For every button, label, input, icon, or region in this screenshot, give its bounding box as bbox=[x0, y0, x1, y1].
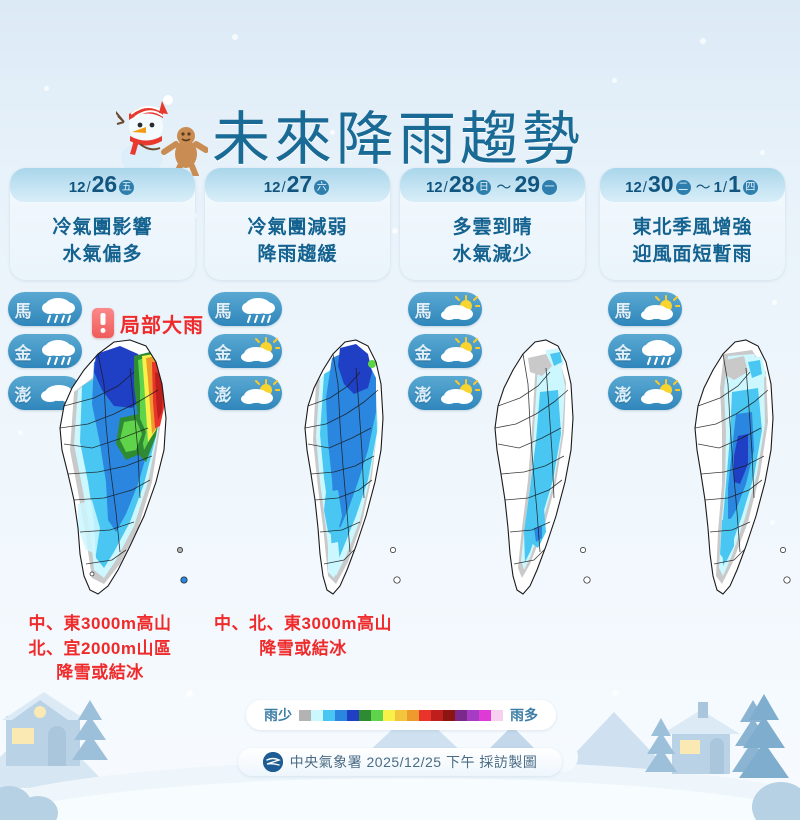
note-line-2: 降雪或結冰 bbox=[198, 637, 408, 662]
rainfall-map-4[interactable] bbox=[676, 332, 800, 602]
rainfall-map-1[interactable] bbox=[34, 332, 204, 602]
weekday-badge-end: 四 bbox=[743, 180, 758, 195]
date-slash: / bbox=[643, 179, 647, 196]
date-line: 12 / 30 二 ～ 1 / 1 四 bbox=[625, 173, 760, 198]
date-day: 30 bbox=[648, 173, 674, 196]
pine-tree bbox=[738, 694, 788, 780]
card-date-header: 12 / 28 日 ～ 29 一 bbox=[400, 168, 585, 202]
date-range-tilde: ～ bbox=[496, 176, 511, 197]
legend-swatch bbox=[491, 710, 503, 721]
note-line-1: 中、東3000m高山 bbox=[0, 612, 200, 637]
island-badge-penghu[interactable]: 澎 bbox=[608, 376, 682, 410]
forecast-card[interactable]: 12 / 26 五 冷氣團影響 水氣偏多 bbox=[10, 168, 195, 280]
legend-swatch bbox=[407, 710, 419, 721]
house-chimney bbox=[698, 702, 708, 718]
sun-cloud-icon bbox=[638, 378, 680, 408]
legend-swatch bbox=[335, 710, 347, 721]
card-headline: 冷氣團影響 水氣偏多 bbox=[10, 206, 195, 278]
date-range-tilde: ～ bbox=[696, 176, 711, 197]
legend-swatch bbox=[395, 710, 407, 721]
island-label: 馬 bbox=[208, 297, 238, 322]
sun-cloud-icon bbox=[438, 378, 480, 408]
pine-tree bbox=[72, 700, 108, 762]
cwa-logo-icon bbox=[263, 752, 283, 772]
island-badges-col4: 馬 金 澎 bbox=[608, 292, 682, 418]
rainfall-legend: 雨少 雨多 bbox=[246, 700, 556, 730]
sun-cloud-icon bbox=[438, 336, 480, 366]
date-month: 12 bbox=[69, 179, 86, 196]
legend-swatch bbox=[455, 710, 467, 721]
island-label: 馬 bbox=[608, 297, 638, 322]
forecast-card[interactable]: 12 / 27 六 冷氣團減弱 降雨趨緩 bbox=[205, 168, 390, 280]
legend-swatch bbox=[431, 710, 443, 721]
legend-swatch bbox=[311, 710, 323, 721]
sun-cloud-icon bbox=[238, 336, 280, 366]
sun-cloud-icon bbox=[638, 294, 680, 324]
island-label: 金 bbox=[408, 339, 438, 364]
pine-tree bbox=[646, 718, 676, 774]
island-badge-kinmen[interactable]: 金 bbox=[608, 334, 682, 368]
note-line-2: 北、宜2000m山區 bbox=[0, 637, 200, 662]
forecast-card[interactable]: 12 / 30 二 ～ 1 / 1 四 東北季風增強 迎風面短暫雨 bbox=[600, 168, 785, 280]
legend-swatch bbox=[419, 710, 431, 721]
snow-note-col2: 中、北、東3000m高山 降雪或結冰 bbox=[198, 612, 408, 661]
legend-swatch bbox=[323, 710, 335, 721]
island-badge-matsu[interactable]: 馬 bbox=[408, 292, 482, 326]
footer-text: 中央氣象署 2025/12/25 下午 採訪製圖 bbox=[290, 752, 538, 772]
legend-swatch bbox=[371, 710, 383, 721]
headline-line-2: 水氣減少 bbox=[452, 242, 532, 269]
footer-bar: 中央氣象署 2025/12/25 下午 採訪製圖 bbox=[238, 748, 562, 776]
island-badge-matsu[interactable]: 馬 bbox=[608, 292, 682, 326]
rainfall-map-3[interactable] bbox=[476, 332, 601, 602]
island-badge-penghu[interactable]: 澎 bbox=[408, 376, 482, 410]
sun-cloud-icon bbox=[438, 294, 480, 324]
page-header: 未來降雨趨勢 bbox=[0, 44, 800, 136]
card-date-header: 12 / 27 六 bbox=[205, 168, 390, 202]
legend-swatch bbox=[383, 710, 395, 721]
headline-line-2: 水氣偏多 bbox=[62, 242, 142, 269]
legend-swatch bbox=[443, 710, 455, 721]
island-badge-matsu[interactable]: 馬 bbox=[208, 292, 282, 326]
forecast-card[interactable]: 12 / 28 日 ～ 29 一 多雲到晴 水氣減少 bbox=[400, 168, 585, 280]
island-label: 馬 bbox=[408, 297, 438, 322]
date-day: 27 bbox=[287, 173, 313, 196]
date-slash: / bbox=[86, 179, 90, 196]
date-range-slash: / bbox=[723, 179, 727, 196]
legend-swatch bbox=[347, 710, 359, 721]
sun-cloud-icon bbox=[238, 378, 280, 408]
date-line: 12 / 28 日 ～ 29 一 bbox=[426, 173, 559, 198]
card-headline: 冷氣團減弱 降雨趨緩 bbox=[205, 206, 390, 278]
island-label: 澎 bbox=[408, 381, 438, 406]
snow-dot bbox=[232, 34, 238, 40]
date-day: 26 bbox=[92, 173, 118, 196]
island-badges-col3: 馬 金 澎 bbox=[408, 292, 482, 418]
snow-dot bbox=[612, 690, 618, 696]
house-window bbox=[34, 706, 46, 718]
house-window bbox=[12, 728, 34, 744]
headline-line-1: 冷氣團影響 bbox=[52, 215, 152, 242]
snow-dot bbox=[772, 300, 777, 305]
rain-icon bbox=[38, 294, 80, 324]
legend-swatch bbox=[479, 710, 491, 721]
rain-icon bbox=[238, 294, 280, 324]
island-label: 金 bbox=[208, 339, 238, 364]
island-badge-matsu[interactable]: 馬 bbox=[8, 292, 82, 326]
island-label: 澎 bbox=[608, 381, 638, 406]
house-window bbox=[680, 740, 700, 754]
island-badges-col2: 馬 金 澎 bbox=[208, 292, 282, 418]
rain-icon bbox=[638, 336, 680, 366]
legend-swatch bbox=[359, 710, 371, 721]
card-headline: 東北季風增強 迎風面短暫雨 bbox=[600, 206, 785, 278]
date-range-month: 1 bbox=[714, 179, 722, 196]
card-date-header: 12 / 26 五 bbox=[10, 168, 195, 202]
card-date-header: 12 / 30 二 ～ 1 / 1 四 bbox=[600, 168, 785, 202]
date-range-day: 29 bbox=[514, 173, 540, 196]
date-range-day: 1 bbox=[728, 173, 741, 196]
forecast-card-row: 12 / 26 五 冷氣團影響 水氣偏多 12 / 27 六 冷氣團減弱 降雨趨… bbox=[0, 168, 800, 280]
headline-line-1: 多雲到晴 bbox=[452, 215, 532, 242]
weekday-badge: 日 bbox=[476, 180, 491, 195]
headline-line-1: 冷氣團減弱 bbox=[247, 215, 347, 242]
house-door bbox=[48, 726, 66, 766]
note-line-1: 中、北、東3000m高山 bbox=[198, 612, 408, 637]
date-slash: / bbox=[281, 179, 285, 196]
legend-swatch bbox=[467, 710, 479, 721]
headline-line-2: 迎風面短暫雨 bbox=[632, 242, 752, 269]
legend-high-label: 雨多 bbox=[510, 705, 538, 725]
weekday-badge: 二 bbox=[676, 180, 691, 195]
weekday-badge: 六 bbox=[314, 180, 329, 195]
date-month: 12 bbox=[264, 179, 281, 196]
snow-dot bbox=[18, 430, 23, 435]
house-door bbox=[710, 738, 724, 774]
date-month: 12 bbox=[426, 179, 443, 196]
date-line: 12 / 26 五 bbox=[69, 173, 136, 198]
date-day: 28 bbox=[449, 173, 475, 196]
date-line: 12 / 27 六 bbox=[264, 173, 331, 198]
headline-line-2: 降雨趨緩 bbox=[257, 242, 337, 269]
island-label: 馬 bbox=[8, 297, 38, 322]
snow-note-col1: 中、東3000m高山 北、宜2000m山區 降雪或結冰 bbox=[0, 612, 200, 686]
page-title: 未來降雨趨勢 bbox=[212, 92, 584, 176]
snowman-icon bbox=[116, 92, 208, 176]
island-badge-kinmen[interactable]: 金 bbox=[408, 334, 482, 368]
headline-line-1: 東北季風增強 bbox=[632, 215, 752, 242]
weekday-badge: 五 bbox=[119, 180, 134, 195]
rainfall-map-2[interactable] bbox=[286, 332, 411, 602]
weekday-badge-end: 一 bbox=[542, 180, 557, 195]
snow-dot bbox=[760, 150, 765, 155]
date-slash: / bbox=[444, 179, 448, 196]
island-badge-penghu[interactable]: 澎 bbox=[208, 376, 282, 410]
snow-dot bbox=[186, 690, 193, 697]
island-badge-kinmen[interactable]: 金 bbox=[208, 334, 282, 368]
note-line-3: 降雪或結冰 bbox=[0, 661, 200, 686]
island-label: 金 bbox=[608, 339, 638, 364]
legend-color-scale bbox=[299, 710, 503, 721]
legend-swatch bbox=[299, 710, 311, 721]
island-label: 澎 bbox=[208, 381, 238, 406]
house-left bbox=[6, 694, 106, 766]
card-headline: 多雲到晴 水氣減少 bbox=[400, 206, 585, 278]
legend-low-label: 雨少 bbox=[264, 705, 292, 725]
date-month: 12 bbox=[625, 179, 642, 196]
